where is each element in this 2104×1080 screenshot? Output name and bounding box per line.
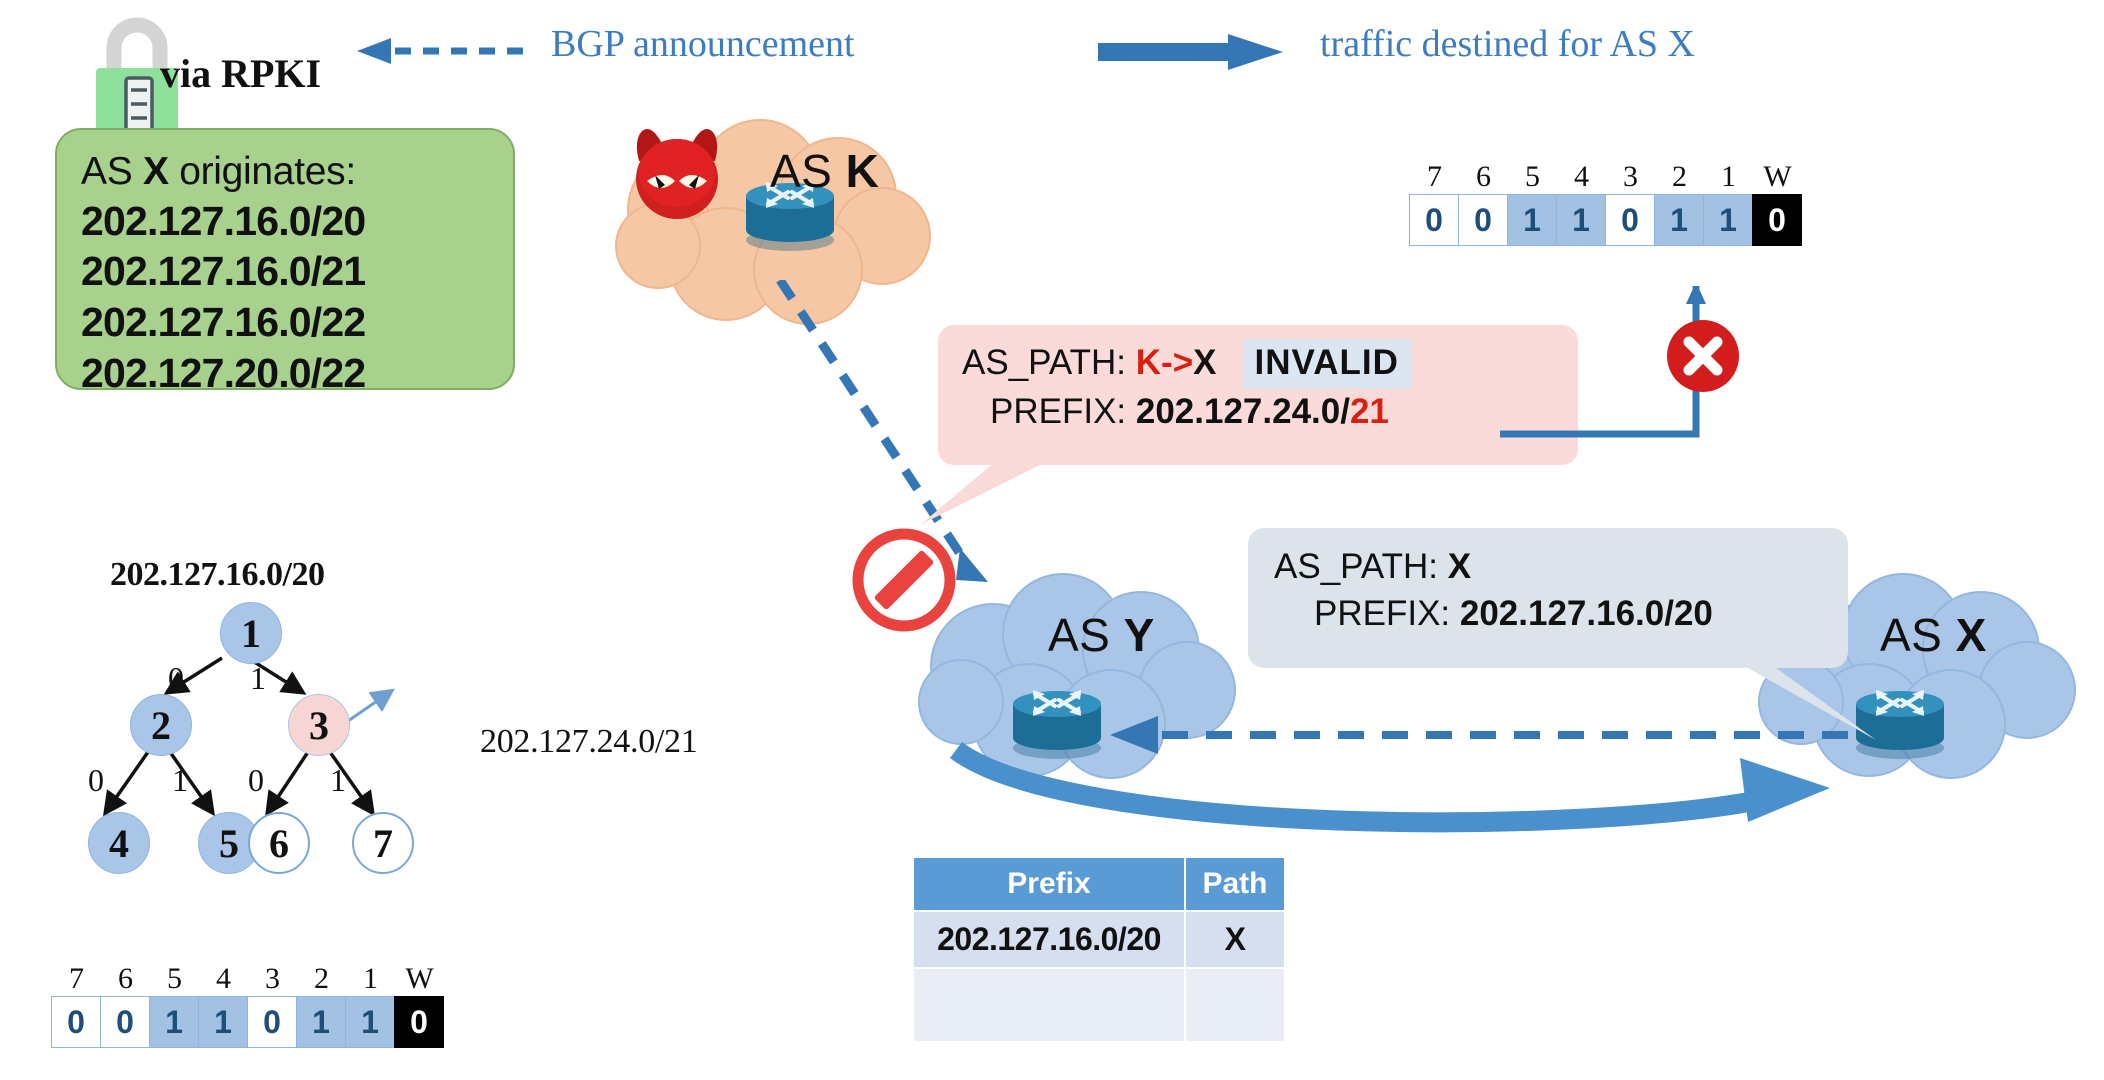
trie-edges: [60, 600, 590, 935]
bit-cell[interactable]: 0: [1752, 194, 1802, 246]
trie-node-7[interactable]: 7: [352, 812, 414, 874]
cell-path: [1185, 968, 1285, 1042]
bit-cell[interactable]: 1: [296, 996, 346, 1048]
prefix-label: PREFIX:: [990, 392, 1136, 431]
roa-header: AS X originates:: [81, 148, 493, 196]
bit-header: 3: [1623, 160, 1638, 194]
bit-cell[interactable]: 0: [51, 996, 101, 1048]
as-k-label: AS K: [770, 144, 879, 198]
bit-header: 1: [1721, 160, 1736, 194]
bit-column: 30: [248, 962, 297, 1048]
as-k-prefix: AS: [770, 145, 846, 197]
gray-prefix-line: PREFIX: 202.127.16.0/20: [1274, 591, 1822, 638]
bit-column: 60: [101, 962, 150, 1048]
valid-announcement-callout: AS_PATH: X PREFIX: 202.127.16.0/20: [1248, 528, 1848, 668]
bit-column: 41: [199, 962, 248, 1048]
legend-bgp-label: BGP announcement: [551, 22, 855, 66]
trie-edge-label: 1: [330, 762, 346, 799]
bit-column: 51: [1508, 160, 1557, 246]
as-x-prefix: AS: [1880, 609, 1956, 661]
bit-header: 5: [167, 962, 182, 996]
bit-header: 1: [363, 962, 378, 996]
roa-prefix: 202.127.20.0/22: [81, 348, 493, 399]
rpki-roa-box: AS X originates: 202.127.16.0/20 202.127…: [55, 128, 515, 390]
trie-node-4[interactable]: 4: [88, 812, 150, 874]
as-x-label: AS X: [1880, 608, 1987, 662]
bit-cell[interactable]: 0: [1409, 194, 1459, 246]
roa-header-prefix: AS: [81, 150, 143, 193]
bit-header: W: [405, 962, 433, 996]
bit-header: 6: [1476, 160, 1491, 194]
trie-edge-label: 0: [168, 660, 184, 697]
bit-cell[interactable]: 1: [345, 996, 395, 1048]
bit-table-bottom: 70 60 51 41 30 21 11 W0: [52, 962, 444, 1048]
red-x-circle-icon: [1665, 318, 1741, 399]
bit-column: 11: [346, 962, 395, 1048]
bit-cell[interactable]: 0: [1605, 194, 1655, 246]
roa-header-as: X: [143, 150, 169, 193]
trie-edge-label: 0: [248, 762, 264, 799]
trie-node-label: 4: [109, 820, 129, 867]
trie-title: 202.127.16.0/20: [110, 556, 324, 594]
as-k-name: K: [846, 145, 880, 197]
bit-cell[interactable]: 1: [1556, 194, 1606, 246]
bit-header: 7: [69, 962, 84, 996]
trie-node-6[interactable]: 6: [248, 812, 310, 874]
bit-header: 2: [314, 962, 329, 996]
bit-cell[interactable]: 1: [1654, 194, 1704, 246]
devil-icon: [625, 123, 729, 230]
bit-cell[interactable]: 0: [394, 996, 444, 1048]
bit-header: 3: [265, 962, 280, 996]
as-y-label: AS Y: [1048, 608, 1155, 662]
as-y-prefix: AS: [1048, 609, 1124, 661]
bit-cell[interactable]: 1: [198, 996, 248, 1048]
bit-cell[interactable]: 0: [100, 996, 150, 1048]
trie-node-label: 7: [373, 820, 393, 867]
trie-node-label: 1: [241, 610, 261, 657]
column-header-path: Path: [1185, 857, 1285, 911]
bit-column: 41: [1557, 160, 1606, 246]
column-header-prefix: Prefix: [913, 857, 1185, 911]
bit-column: 51: [150, 962, 199, 1048]
trie-edge-label: 0: [88, 762, 104, 799]
bit-header: 7: [1427, 160, 1442, 194]
trie-node-1[interactable]: 1: [220, 602, 282, 664]
bit-column: 60: [1459, 160, 1508, 246]
bit-column: 30: [1606, 160, 1655, 246]
as-path-value: X: [1448, 547, 1471, 586]
legend-traffic-label: traffic destined for AS X: [1320, 22, 1695, 66]
bit-header: 5: [1525, 160, 1540, 194]
prefix-length: 21: [1350, 392, 1389, 431]
bit-column: W0: [395, 962, 444, 1048]
routing-table: Prefix Path 202.127.16.0/20 X: [912, 856, 1286, 1043]
trie-node-3[interactable]: 3: [288, 694, 350, 756]
rpki-label: via RPKI: [160, 50, 321, 97]
pink-prefix-line: PREFIX: 202.127.24.0/21: [962, 389, 1556, 435]
bit-header: 4: [1574, 160, 1589, 194]
prefix-label: PREFIX:: [1314, 594, 1460, 633]
table-header-row: Prefix Path: [913, 857, 1285, 911]
cell-prefix: [913, 968, 1185, 1042]
bit-cell[interactable]: 1: [1507, 194, 1557, 246]
as-y-name: Y: [1124, 609, 1155, 661]
prefix-value: 202.127.24.0/: [1136, 392, 1350, 431]
bit-header: 4: [216, 962, 231, 996]
bit-header: W: [1763, 160, 1791, 194]
legend-bgp-arrow: [355, 38, 525, 69]
cell-path: X: [1185, 911, 1285, 968]
trie-node-2[interactable]: 2: [130, 694, 192, 756]
trie-node-label: 6: [269, 820, 289, 867]
trie-node-label: 2: [151, 702, 171, 749]
bit-column: 11: [1704, 160, 1753, 246]
trie-edge-label: 1: [250, 660, 266, 697]
legend-traffic-arrow: [1098, 34, 1283, 75]
as-path-label: AS_PATH:: [962, 343, 1136, 382]
bit-column: 21: [297, 962, 346, 1048]
bit-header: 2: [1672, 160, 1687, 194]
trie-side-prefix-label: 202.127.24.0/21: [480, 723, 697, 761]
gray-as-path-line: AS_PATH: X: [1274, 544, 1822, 591]
trie-edge-label: 1: [172, 762, 188, 799]
trie-node-label: 3: [309, 702, 329, 749]
cell-prefix: 202.127.16.0/20: [913, 911, 1185, 968]
pink-as-path-line: AS_PATH: K->XINVALID: [962, 339, 1556, 389]
bit-cell[interactable]: 0: [247, 996, 297, 1048]
bit-cell[interactable]: 1: [1703, 194, 1753, 246]
prefix-value: 202.127.16.0/20: [1460, 594, 1713, 633]
invalid-announcement-callout: AS_PATH: K->XINVALID PREFIX: 202.127.24.…: [938, 325, 1578, 465]
as-path-label: AS_PATH:: [1274, 547, 1448, 586]
as-path-dst: X: [1193, 343, 1216, 382]
bit-column: 70: [52, 962, 101, 1048]
table-row[interactable]: 202.127.16.0/20 X: [913, 911, 1285, 968]
table-row[interactable]: [913, 968, 1285, 1042]
bit-column: 70: [1410, 160, 1459, 246]
trie-node-label: 5: [219, 820, 239, 867]
bit-cell[interactable]: 0: [1458, 194, 1508, 246]
traffic-flow-y-to-x: [950, 740, 1840, 845]
as-path-src: K->: [1136, 343, 1193, 382]
as-x-name: X: [1956, 609, 1987, 661]
roa-prefix: 202.127.16.0/20: [81, 196, 493, 247]
roa-prefix: 202.127.16.0/21: [81, 246, 493, 297]
bit-column: W0: [1753, 160, 1802, 246]
bit-table-top-right: 70 60 51 41 30 21 11 W0: [1410, 160, 1802, 246]
bit-cell[interactable]: 1: [149, 996, 199, 1048]
bit-column: 21: [1655, 160, 1704, 246]
pink-callout-tail: [900, 455, 1060, 540]
bit-header: 6: [118, 962, 133, 996]
roa-prefix: 202.127.16.0/22: [81, 297, 493, 348]
invalid-badge: INVALID: [1243, 339, 1411, 389]
roa-header-suffix: originates:: [169, 150, 356, 193]
